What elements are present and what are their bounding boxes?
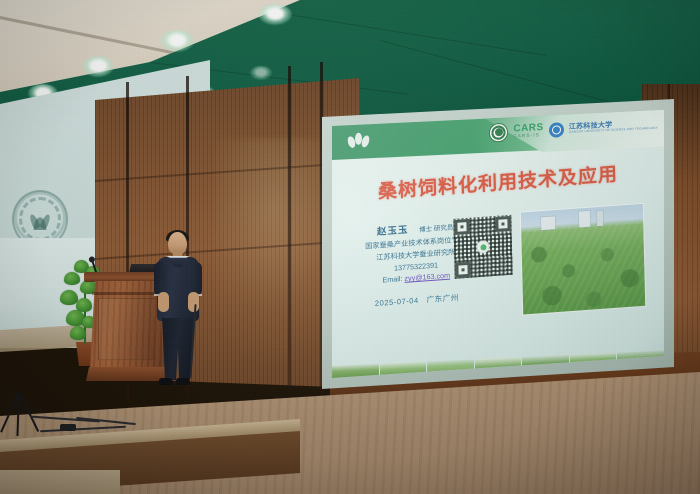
- email-address: zyy@163.com: [404, 271, 450, 283]
- slide-location: 广东广州: [426, 293, 459, 304]
- silkworm-icon: [348, 132, 370, 150]
- cars-logo-text: CARS CARS-IS: [513, 123, 543, 139]
- downlight-1: [160, 30, 194, 52]
- presenter: [152, 232, 204, 390]
- university-logo-mark: [549, 122, 564, 138]
- projection-screen: CARS CARS-IS 江苏科技大学 JIANGSU UNIVERSITY O…: [332, 110, 664, 378]
- cable-connector-box: [60, 424, 76, 431]
- mulberry-field-photo: [521, 204, 645, 315]
- presentation-slide: CARS CARS-IS 江苏科技大学 JIANGSU UNIVERSITY O…: [332, 110, 664, 378]
- speaker-name-text: 赵玉玉: [377, 225, 409, 238]
- conference-room-photo: CARS CARS-IS 江苏科技大学 JIANGSU UNIVERSITY O…: [0, 0, 700, 494]
- cars-seal-logo: [489, 122, 508, 142]
- lower-floor: [0, 470, 120, 494]
- wechat-qr-code: [453, 215, 512, 279]
- wood-seam: [288, 66, 291, 386]
- slide-date: 2025-07-04: [375, 296, 419, 308]
- university-logo-text: 江苏科技大学 JIANGSU UNIVERSITY OF SCIENCE AND…: [569, 119, 658, 134]
- downlight-7: [250, 66, 272, 80]
- email-label: Email:: [382, 274, 402, 284]
- speaker-degree: 博士 研究员: [419, 224, 453, 233]
- downlight-2: [82, 56, 114, 77]
- cars-logo-sub: CARS-IS: [513, 133, 543, 139]
- downlight-4: [258, 4, 292, 25]
